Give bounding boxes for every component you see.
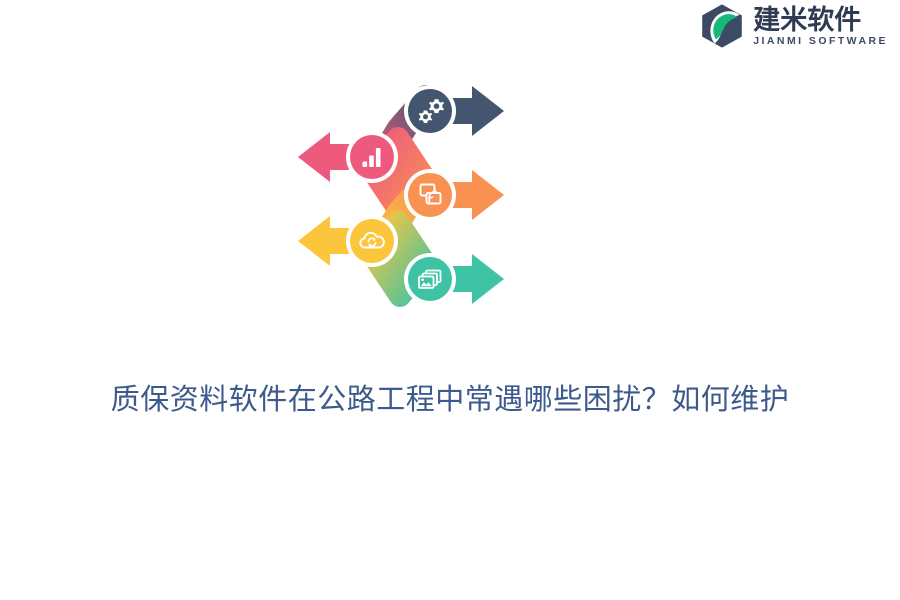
process-infographic-svg (276, 62, 526, 322)
process-step-screen-cast[interactable] (404, 169, 504, 221)
brand-name-cn: 建米软件 (753, 7, 888, 35)
process-step-gears[interactable] (404, 85, 504, 137)
process-step-cloud-sync[interactable] (298, 215, 398, 267)
brand-text: 建米软件 JIANMI SOFTWARE (753, 5, 888, 48)
brand-logo: 建米软件 JIANMI SOFTWARE (699, 0, 888, 52)
process-step-bar-chart[interactable] (298, 131, 398, 183)
step-circle-navy (408, 89, 452, 133)
brand-name-en: JIANMI SOFTWARE (753, 36, 888, 48)
page-title: 质保资料软件在公路工程中常遇哪些困扰？如何维护 (0, 378, 900, 420)
step-circle-yellow (350, 219, 394, 263)
process-infographic (276, 62, 526, 322)
jianmi-hexagon-leaf-logo-icon (699, 3, 745, 49)
process-step-image-gallery[interactable] (404, 253, 504, 305)
